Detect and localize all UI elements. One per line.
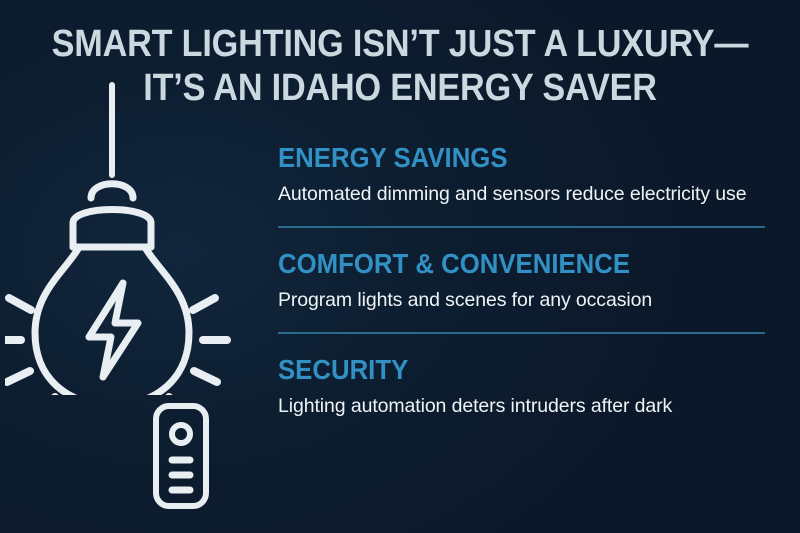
feature-list: ENERGY SAVINGS Automated dimming and sen… [278, 142, 778, 419]
page-title: SMART LIGHTING ISN’T JUST A LUXURY— IT’S… [0, 22, 800, 110]
feature-body: Automated dimming and sensors reduce ele… [278, 181, 748, 207]
feature-body: Lighting automation deters intruders aft… [278, 393, 748, 419]
feature-item-security: SECURITY Lighting automation deters intr… [278, 354, 778, 419]
remote-power-ring-icon [172, 425, 190, 443]
bulb-cap [73, 210, 151, 248]
lightning-bolt-icon [89, 283, 138, 377]
feature-item-comfort-convenience: COMFORT & CONVENIENCE Program lights and… [278, 248, 778, 313]
hanging-light-bulb-icon [5, 75, 245, 395]
infographic-poster: SMART LIGHTING ISN’T JUST A LUXURY— IT’S… [0, 0, 800, 533]
feature-heading: COMFORT & CONVENIENCE [278, 248, 738, 280]
feature-heading: SECURITY [278, 354, 738, 386]
icon-column [0, 70, 265, 533]
feature-body: Program lights and scenes for any occasi… [278, 287, 748, 313]
spacer [278, 334, 778, 354]
bulb-hook-icon [91, 184, 133, 198]
feature-heading: ENERGY SAVINGS [278, 142, 738, 174]
title-line-1: SMART LIGHTING ISN’T JUST A LUXURY— [40, 22, 760, 66]
remote-control-icon [150, 400, 220, 515]
spacer [278, 228, 778, 248]
title-line-2: IT’S AN IDAHO ENERGY SAVER [40, 66, 760, 110]
feature-item-energy-savings: ENERGY SAVINGS Automated dimming and sen… [278, 142, 778, 207]
